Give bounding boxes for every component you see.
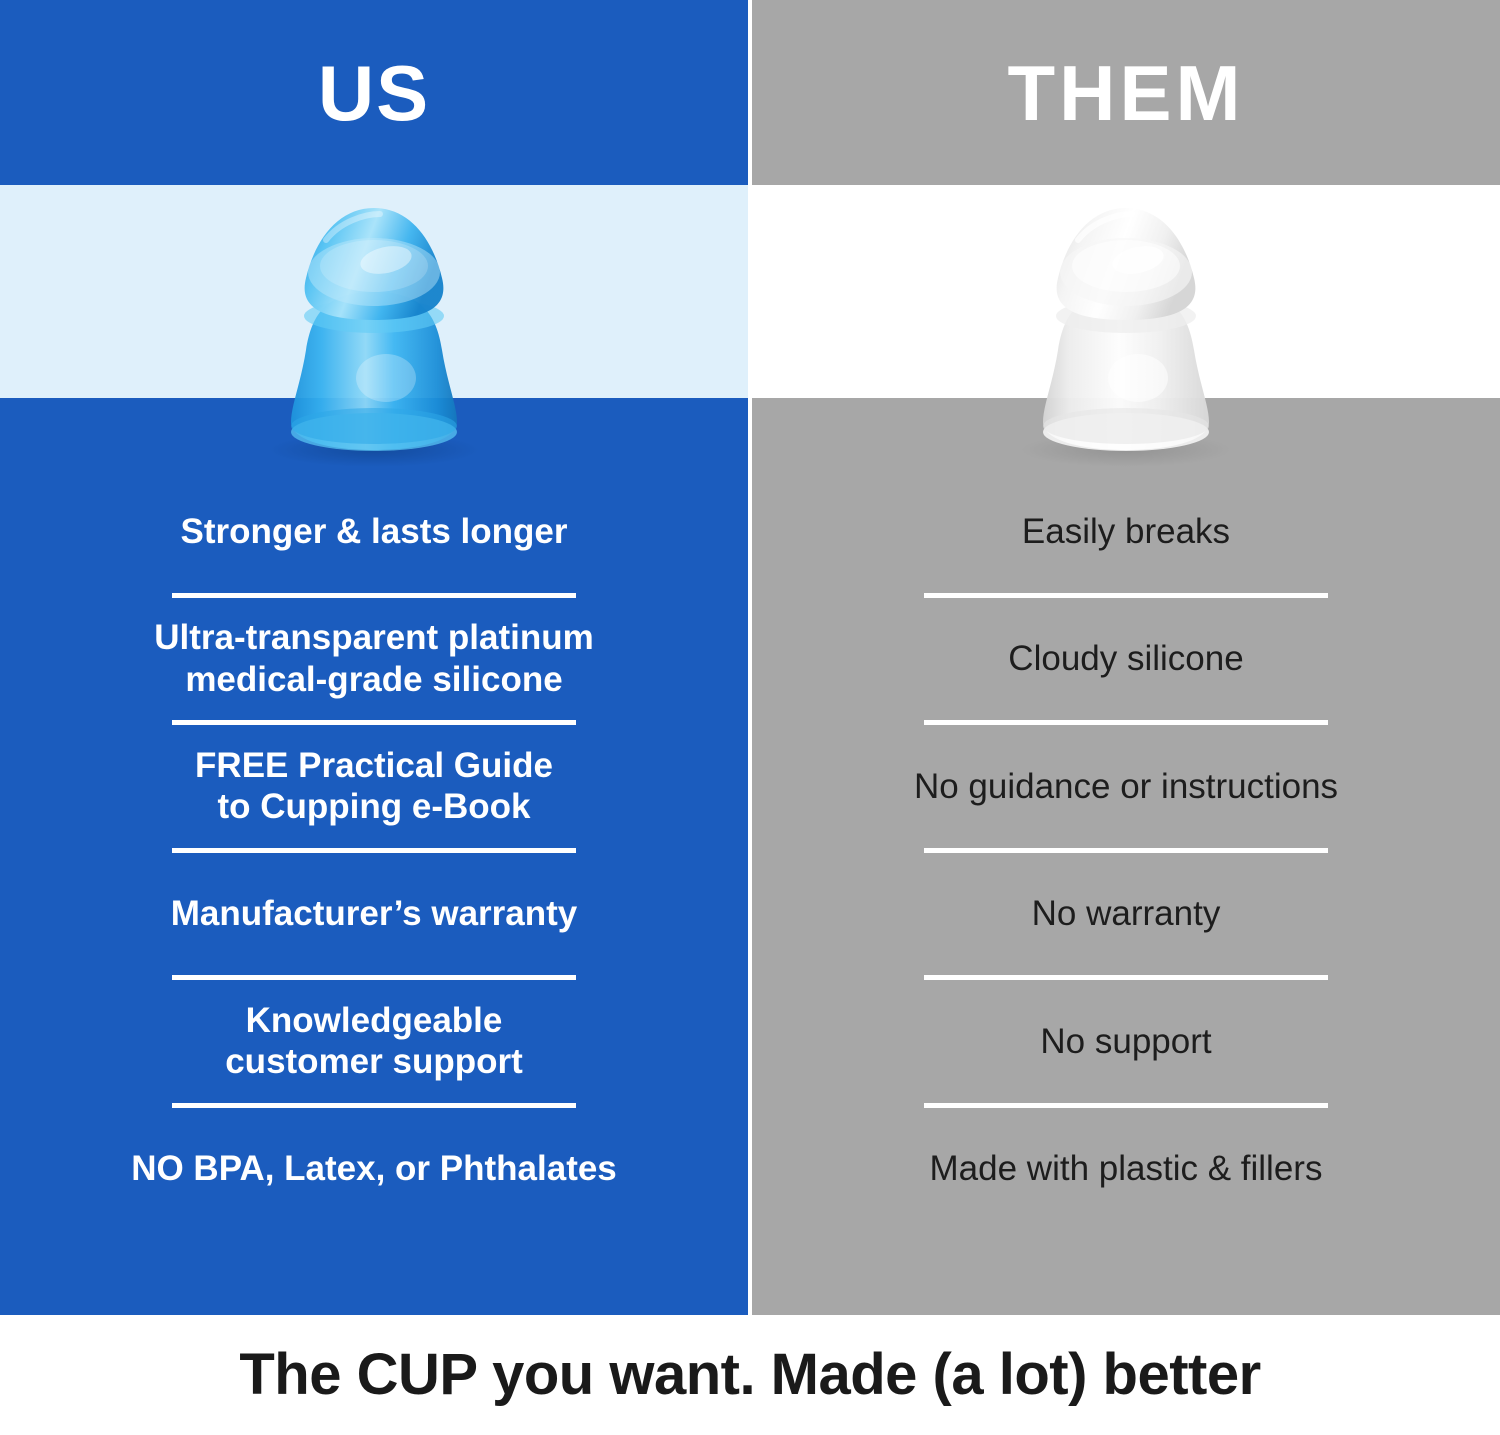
us-feature-row: Stronger & lasts longer — [0, 470, 748, 593]
us-header-title: US — [318, 54, 430, 132]
us-photo-band — [0, 185, 748, 398]
us-feature-text: Stronger & lasts longer — [40, 511, 708, 552]
them-feature-text: Cloudy silicone — [792, 638, 1460, 679]
them-header-band: THEM — [752, 0, 1500, 185]
them-header-title: THEM — [1008, 54, 1245, 132]
us-header-band: US — [0, 0, 748, 185]
them-feature-text: No warranty — [792, 893, 1460, 934]
them-feature-text: No support — [792, 1021, 1460, 1062]
them-photo-band — [752, 185, 1500, 398]
them-feature-text: Made with plastic & fillers — [792, 1148, 1460, 1189]
them-feature-row: No guidance or instructions — [752, 725, 1500, 848]
us-feature-text: NO BPA, Latex, or Phthalates — [40, 1148, 708, 1189]
column-us: US — [0, 0, 748, 1315]
us-feature-row: NO BPA, Latex, or Phthalates — [0, 1108, 748, 1231]
us-feature-row: Knowledgeable customer support — [0, 980, 748, 1103]
them-feature-list: Easily breaks Cloudy silicone No guidanc… — [752, 470, 1500, 1230]
them-feature-row: Easily breaks — [752, 470, 1500, 593]
us-feature-text: FREE Practical Guide to Cupping e-Book — [40, 745, 708, 828]
them-feature-row: Cloudy silicone — [752, 598, 1500, 721]
us-feature-list: Stronger & lasts longer Ultra-transparen… — [0, 470, 748, 1230]
us-feature-text: Knowledgeable customer support — [40, 1000, 708, 1083]
them-feature-text: Easily breaks — [792, 511, 1460, 552]
us-feature-row: Ultra-transparent platinum medical-grade… — [0, 598, 748, 721]
us-feature-text: Ultra-transparent platinum medical-grade… — [40, 617, 708, 700]
them-feature-row: No warranty — [752, 853, 1500, 976]
column-them: THEM — [752, 0, 1500, 1315]
them-feature-row: Made with plastic & fillers — [752, 1108, 1500, 1231]
them-feature-row: No support — [752, 980, 1500, 1103]
footer-tagline: The CUP you want. Made (a lot) better — [239, 1346, 1260, 1404]
us-feature-row: FREE Practical Guide to Cupping e-Book — [0, 725, 748, 848]
us-feature-row: Manufacturer’s warranty — [0, 853, 748, 976]
them-feature-text: No guidance or instructions — [792, 766, 1460, 807]
comparison-infographic: US — [0, 0, 1500, 1435]
us-feature-text: Manufacturer’s warranty — [40, 893, 708, 934]
footer-band: The CUP you want. Made (a lot) better — [0, 1315, 1500, 1435]
